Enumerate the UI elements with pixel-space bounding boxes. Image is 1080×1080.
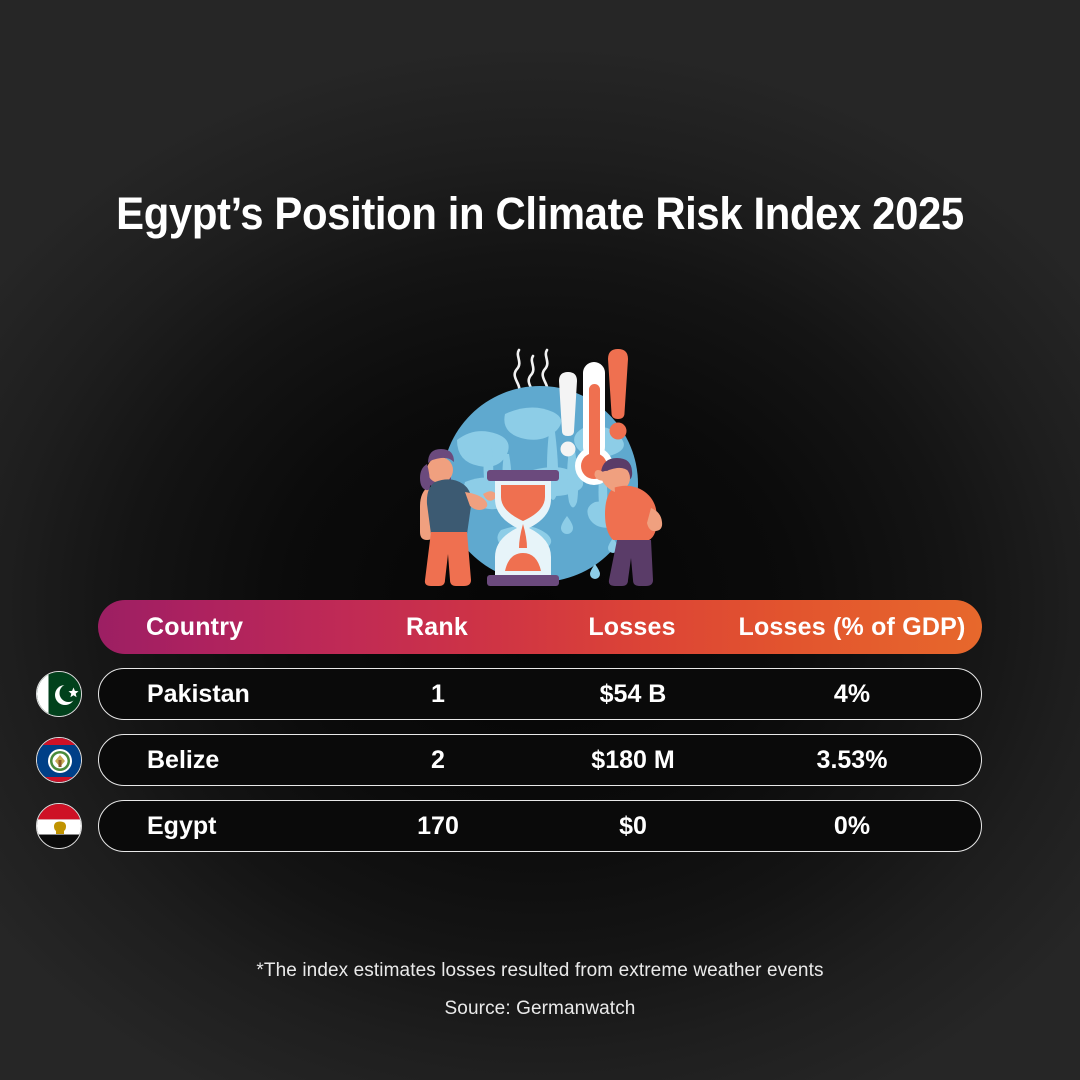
cell-losses-gdp: 0% [737, 812, 981, 841]
table-row-content: Belize 2 $180 M 3.53% [98, 734, 982, 786]
table-header-row: Country Rank Losses Losses (% of GDP) [98, 600, 982, 654]
table-row-content: Pakistan 1 $54 B 4% [98, 668, 982, 720]
infographic-canvas: Egypt’s Position in Climate Risk Index 2… [0, 0, 1080, 1080]
belize-flag-icon [36, 737, 82, 783]
column-header-rank: Rank [346, 613, 528, 642]
cell-country: Belize [99, 746, 347, 775]
cell-country: Egypt [99, 812, 347, 841]
cell-losses: $54 B [529, 680, 737, 709]
cell-losses-gdp: 3.53% [737, 746, 981, 775]
climate-risk-table: Country Rank Losses Losses (% of GDP) Pa… [0, 600, 1080, 852]
table-row-content: Egypt 170 $0 0% [98, 800, 982, 852]
egypt-flag-icon [36, 803, 82, 849]
melting-globe-climate-illustration [405, 332, 675, 590]
footnote-note: *The index estimates losses resulted fro… [0, 960, 1080, 982]
table-row: Egypt 170 $0 0% [98, 800, 982, 852]
cell-losses: $0 [529, 812, 737, 841]
cell-country: Pakistan [99, 680, 347, 709]
column-header-losses-gdp-light: (% of GDP) [826, 613, 966, 641]
table-row: Pakistan 1 $54 B 4% [98, 668, 982, 720]
cell-rank: 170 [347, 812, 529, 841]
table-row: Belize 2 $180 M 3.53% [98, 734, 982, 786]
pakistan-flag-icon [36, 671, 82, 717]
page-title: Egypt’s Position in Climate Risk Index 2… [38, 188, 1042, 240]
column-header-losses-gdp-bold: Losses [738, 613, 825, 641]
column-header-losses-gdp: Losses (% of GDP) [736, 613, 982, 642]
cell-losses-gdp: 4% [737, 680, 981, 709]
cell-rank: 2 [347, 746, 529, 775]
column-header-losses: Losses [528, 613, 736, 642]
cell-rank: 1 [347, 680, 529, 709]
footnotes: *The index estimates losses resulted fro… [0, 960, 1080, 1020]
cell-losses: $180 M [529, 746, 737, 775]
column-header-country: Country [98, 613, 346, 642]
footnote-source: Source: Germanwatch [0, 998, 1080, 1020]
